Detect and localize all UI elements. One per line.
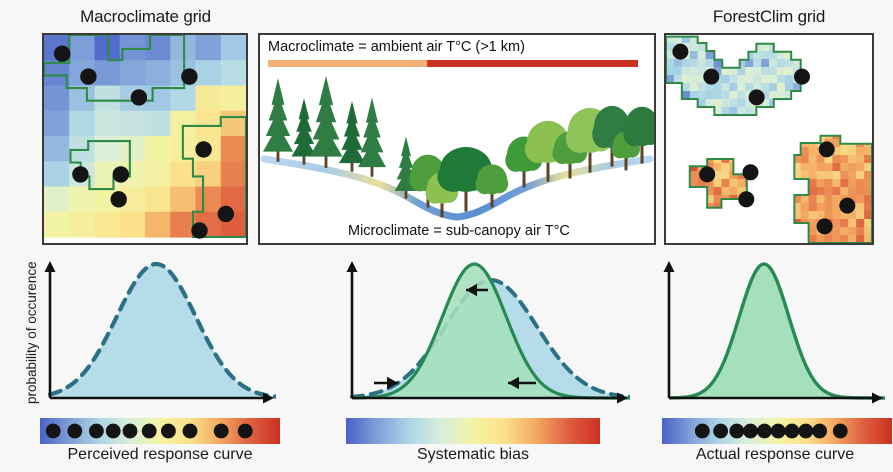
colorbar-occurrence-dot	[89, 424, 104, 439]
macro-grid-cell	[69, 86, 95, 112]
conifer-tree	[358, 98, 386, 177]
macro-grid-cell	[44, 86, 70, 112]
x-axis-arrowhead	[872, 393, 883, 404]
colorbar-occurrence-dot	[695, 424, 710, 439]
y-axis-arrowhead	[347, 261, 358, 272]
occurrence-dot	[195, 141, 211, 157]
colorbar-occurrence-dot	[833, 424, 848, 439]
macro-grid-cell	[120, 111, 146, 137]
perceived-response-chart[interactable]	[36, 258, 276, 413]
macroclimate-bar-warm	[268, 60, 427, 67]
macro-grid-cell	[145, 136, 171, 162]
colorbar-occurrence-dot	[214, 424, 229, 439]
colorbar-occurrence-dot	[785, 424, 800, 439]
occurrence-dot	[191, 222, 207, 238]
systematic-bias-caption: Systematic bias	[346, 446, 600, 464]
colorbar-occurrence-dot	[771, 424, 786, 439]
occurrence-dot	[113, 166, 129, 182]
macro-grid-cell	[69, 111, 95, 137]
occurrence-dot	[181, 68, 197, 84]
conifer-tree	[310, 76, 343, 168]
macro-grid-cell	[145, 111, 171, 137]
macro-grid-cell	[170, 187, 196, 213]
colorbar-occurrence-dot	[106, 424, 121, 439]
macro-grid-cell	[69, 212, 95, 238]
macro-grid-cell	[196, 35, 222, 61]
occurrence-dot	[131, 89, 147, 105]
colorbar-occurrence-dot	[46, 424, 61, 439]
macro-grid-cell	[44, 161, 70, 187]
occurrence-dot	[80, 68, 96, 84]
occurrence-dot	[839, 198, 855, 214]
occurrence-dot	[703, 69, 719, 85]
macro-grid-cell	[44, 212, 70, 238]
macro-grid-cell	[145, 161, 171, 187]
macro-grid-cell	[44, 111, 70, 137]
forestclim-grid-panel[interactable]	[664, 33, 874, 245]
perceived-curve-fill	[50, 264, 276, 398]
actual-colorbar[interactable]	[662, 418, 892, 444]
macro-grid-cell	[196, 86, 222, 112]
macro-grid-cell	[120, 212, 146, 238]
occurrence-dot	[672, 44, 688, 60]
occurrence-dot	[699, 166, 715, 182]
macro-grid-cell	[221, 35, 246, 61]
perceived-caption: Perceived response curve	[36, 446, 284, 464]
forestclim-heatmap	[666, 35, 872, 243]
macro-grid-cell	[95, 136, 121, 162]
macro-grid-cell	[120, 136, 146, 162]
macro-grid-cell	[120, 60, 146, 86]
colorbar-occurrence-dot	[743, 424, 758, 439]
occurrence-dot	[819, 141, 835, 157]
occurrence-dot	[54, 46, 70, 62]
macro-grid-cell	[196, 187, 222, 213]
y-axis-arrowhead	[664, 261, 675, 272]
macroclimate-grid-title: Macroclimate grid	[43, 7, 248, 27]
macro-grid-cell	[221, 136, 246, 162]
occurrence-dot	[749, 89, 765, 105]
macro-grid-cell	[145, 86, 171, 112]
systematic-bias-colorbar[interactable]	[346, 418, 600, 444]
macro-grid-cell	[145, 187, 171, 213]
perceived-colorbar[interactable]	[40, 418, 280, 444]
macro-grid-cell	[69, 187, 95, 213]
colorbar-occurrence-dot	[161, 424, 176, 439]
macro-grid-cell	[170, 86, 196, 112]
microclimate-label: Microclimate = sub-canopy air T°C	[348, 223, 570, 239]
y-axis-arrowhead	[45, 261, 56, 272]
colorbar-occurrence-dot	[183, 424, 198, 439]
colorbar-occurrence-dot	[142, 424, 157, 439]
macro-grid-cell	[44, 187, 70, 213]
macro-grid-cell	[196, 111, 222, 137]
macro-grid-cell	[145, 60, 171, 86]
colorbar-occurrence-dot	[729, 424, 744, 439]
macro-grid-cell	[145, 212, 171, 238]
occurrence-dot	[738, 191, 754, 207]
macro-grid-cell	[44, 136, 70, 162]
conifer-tree	[339, 101, 365, 172]
macro-grid-cell	[221, 111, 246, 137]
microclimate-schematic-panel[interactable]: Macroclimate = ambient air T°C (>1 km) M…	[258, 33, 656, 245]
colorbar-occurrence-dot	[713, 424, 728, 439]
macroclimate-bar-hot	[427, 60, 638, 67]
actual-caption: Actual response curve	[655, 446, 893, 464]
occurrence-dot	[743, 164, 759, 180]
systematic-bias-chart[interactable]	[330, 258, 630, 413]
occurrence-dot	[72, 166, 88, 182]
actual-response-chart[interactable]	[655, 258, 885, 413]
colorbar-occurrence-dot	[812, 424, 827, 439]
occurrence-dot	[218, 206, 234, 222]
macro-grid-cell	[196, 60, 222, 86]
colorbar-occurrence-dot	[757, 424, 772, 439]
macro-grid-cell	[69, 35, 95, 61]
colorbar-occurrence-dot	[67, 424, 82, 439]
occurrence-dot	[817, 218, 833, 234]
forestclim-grid-title: ForestClim grid	[665, 7, 873, 27]
colorbar-occurrence-dot	[798, 424, 813, 439]
macro-grid-cell	[95, 86, 121, 112]
macro-grid-cell	[95, 111, 121, 137]
macro-grid-cell	[221, 60, 246, 86]
macroclimate-label: Macroclimate = ambient air T°C (>1 km)	[268, 39, 525, 55]
occurrence-dot	[794, 69, 810, 85]
macroclimate-grid-panel[interactable]	[42, 33, 248, 245]
colorbar-occurrence-dot	[238, 424, 253, 439]
forest-valley-illustration	[260, 35, 654, 243]
macroclimate-heatmap	[44, 35, 246, 243]
microclimate-figure: Macroclimate grid Macroclimate = ambient…	[0, 0, 893, 472]
colorbar-occurrence-dot	[123, 424, 138, 439]
macro-grid-cell	[196, 161, 222, 187]
macro-grid-cell	[221, 161, 246, 187]
conifer-tree	[263, 78, 293, 161]
occurrence-dot	[111, 191, 127, 207]
macro-grid-cell	[221, 86, 246, 112]
macro-grid-cell	[95, 212, 121, 238]
macro-grid-cell	[95, 60, 121, 86]
